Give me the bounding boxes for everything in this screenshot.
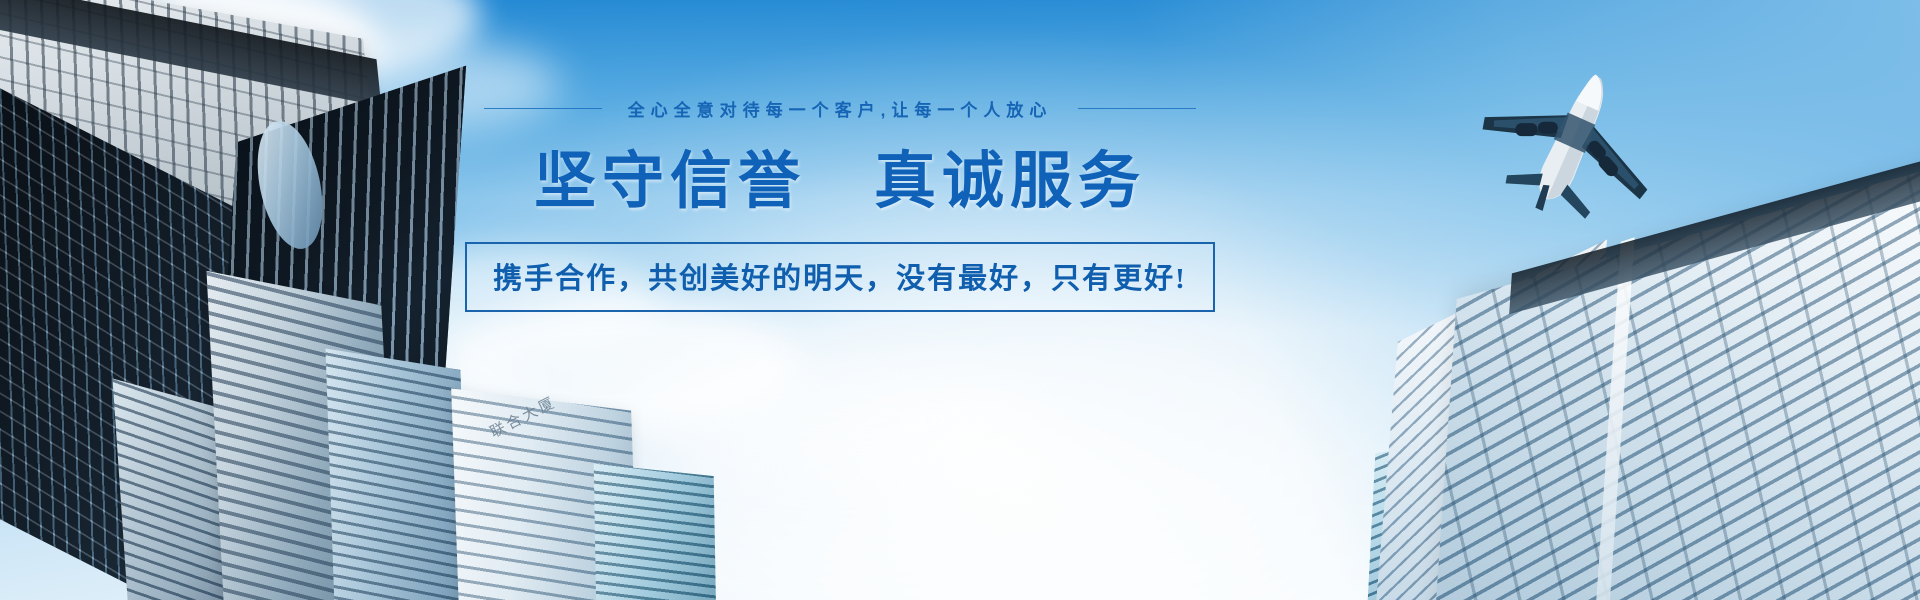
hero-banner: 联合大厦 — [0, 0, 1920, 600]
banner-tagline: 全心全意对待每一个客户,让每一个人放心 — [628, 96, 1053, 121]
banner-headline: 坚守信誉 真诚服务 — [430, 149, 1250, 216]
subtitle-wrapper: 携手合作，共创美好的明天，没有最好，只有更好! — [430, 242, 1250, 312]
banner-subtitle: 携手合作，共创美好的明天，没有最好，只有更好! — [465, 242, 1215, 312]
banner-text-block: 全心全意对待每一个客户,让每一个人放心 坚守信誉 真诚服务 携手合作，共创美好的… — [430, 96, 1250, 312]
left-midrise-building-b — [326, 348, 470, 600]
cloud — [620, 360, 1040, 480]
airplane-icon — [1470, 62, 1670, 222]
tagline-row: 全心全意对待每一个客户,让每一个人放心 — [430, 96, 1250, 121]
decorative-rule-right-icon — [1078, 108, 1196, 109]
teal-building — [594, 464, 717, 600]
decorative-rule-left-icon — [484, 108, 602, 109]
